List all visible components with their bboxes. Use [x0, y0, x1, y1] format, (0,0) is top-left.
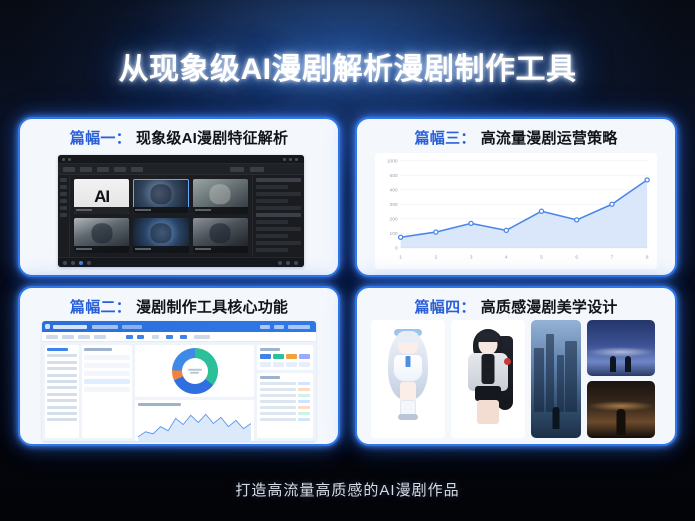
thumbnail-ai-label: AI	[94, 188, 109, 205]
donut-chart	[172, 348, 218, 394]
svg-text:7: 7	[611, 254, 614, 260]
svg-text:5: 5	[540, 254, 543, 260]
dashboard-main-column	[135, 345, 254, 438]
svg-text:600: 600	[389, 173, 398, 179]
dashboard-toolbar	[42, 332, 316, 342]
chart-data-point	[434, 230, 438, 234]
scene-artwork-corridor	[587, 381, 655, 438]
card-two-header: 篇幅二：漫剧制作工具核心功能	[20, 288, 338, 322]
quick-stats-panel	[257, 345, 313, 370]
editor-main: AI	[58, 175, 304, 257]
card-three-body: 01002003004006001000 12345678	[357, 151, 675, 275]
editor-statusbar	[58, 257, 304, 267]
dashboard-header	[42, 321, 316, 332]
svg-text:1: 1	[399, 254, 402, 260]
thumbnail-ai[interactable]: AI	[74, 179, 129, 214]
chart-data-point	[504, 228, 508, 232]
table-row	[260, 382, 310, 385]
card-chapter-one[interactable]: 篇幅一：现象级AI漫剧特征解析	[18, 117, 340, 277]
scene-artwork-portal	[587, 320, 655, 376]
card-one-body: AI	[20, 151, 338, 275]
admin-dashboard-screenshot	[42, 321, 316, 441]
card-four-heading: 高质感漫剧美学设计	[481, 299, 618, 316]
thumbnail-item[interactable]	[193, 218, 248, 253]
svg-text:8: 8	[646, 254, 649, 260]
footer-tagline: 打造高流量高质感的AI漫剧作品	[0, 479, 695, 500]
video-editor-screenshot: AI	[58, 155, 304, 267]
card-four-header: 篇幅四：高质感漫剧美学设计	[357, 288, 675, 322]
chart-x-tick-labels: 12345678	[399, 254, 649, 260]
table-row	[260, 412, 310, 415]
chart-data-point	[575, 218, 579, 222]
card-two-heading: 漫剧制作工具核心功能	[136, 299, 288, 316]
main-title-text: 从现象级AI漫剧解析漫剧制作工具	[119, 44, 577, 88]
editor-thumbnail-grid: AI	[70, 175, 252, 257]
thumbnail-item[interactable]	[74, 218, 129, 253]
table-row	[260, 400, 310, 403]
line-chart: 01002003004006001000 12345678	[375, 153, 657, 269]
table-row	[260, 406, 310, 409]
dashboard-sidebar[interactable]	[45, 345, 79, 438]
thumbnail-item[interactable]	[133, 218, 188, 253]
slide-canvas: 从现象级AI漫剧解析漫剧制作工具 篇幅一：现象级AI漫剧特征解析	[0, 0, 695, 521]
editor-toolbar	[58, 164, 304, 175]
editor-left-rail	[58, 175, 70, 257]
editor-properties-panel	[252, 175, 304, 257]
chart-data-point	[399, 235, 403, 239]
card-one-heading: 现象级AI漫剧特征解析	[136, 130, 288, 147]
area-chart-panel	[135, 400, 254, 441]
svg-text:2: 2	[434, 254, 437, 260]
scene-column	[587, 320, 655, 438]
dashboard-list-panel[interactable]	[82, 345, 132, 438]
svg-text:400: 400	[389, 188, 398, 194]
area-chart-svg	[138, 406, 251, 441]
chart-data-point	[610, 202, 614, 206]
svg-text:1000: 1000	[387, 159, 398, 165]
svg-text:200: 200	[389, 217, 398, 223]
card-three-header: 篇幅三：高流量漫剧运营策略	[357, 119, 675, 153]
donut-chart-panel	[135, 345, 254, 397]
dashboard-body	[42, 342, 316, 441]
artwork-gallery	[367, 320, 665, 438]
table-row	[260, 394, 310, 397]
page-title: 从现象级AI漫剧解析漫剧制作工具	[0, 44, 695, 88]
svg-text:6: 6	[575, 254, 578, 260]
card-chapter-three[interactable]: 篇幅三：高流量漫剧运营策略 01002003004006001000 12345…	[355, 117, 677, 277]
card-one-tag: 篇幅一：	[70, 130, 131, 147]
svg-text:300: 300	[389, 202, 398, 208]
svg-text:100: 100	[389, 231, 398, 237]
card-three-tag: 篇幅三：	[414, 130, 475, 147]
chart-data-point	[469, 221, 473, 225]
card-four-tag: 篇幅四：	[414, 299, 475, 316]
chart-y-tick-labels: 01002003004006001000	[387, 159, 398, 252]
chart-data-point	[645, 178, 649, 182]
table-row	[260, 388, 310, 391]
svg-text:0: 0	[395, 246, 398, 252]
dashboard-logo-icon	[45, 324, 50, 329]
footer-text: 打造高流量高质感的AI漫剧作品	[235, 482, 459, 499]
chart-data-point	[539, 209, 543, 213]
scene-artwork-city	[531, 320, 581, 438]
line-chart-svg: 01002003004006001000 12345678	[375, 153, 657, 269]
card-two-tag: 篇幅二：	[70, 299, 131, 316]
card-three-heading: 高流量漫剧运营策略	[481, 130, 618, 147]
data-table-panel	[257, 373, 313, 439]
card-two-body	[20, 320, 338, 444]
svg-text:4: 4	[505, 254, 508, 260]
character-artwork-black	[451, 320, 525, 438]
thumbnail-item[interactable]	[193, 179, 248, 214]
card-one-header: 篇幅一：现象级AI漫剧特征解析	[20, 119, 338, 153]
card-chapter-four[interactable]: 篇幅四：高质感漫剧美学设计	[355, 286, 677, 446]
character-artwork-white	[371, 320, 445, 438]
card-chapter-two[interactable]: 篇幅二：漫剧制作工具核心功能	[18, 286, 340, 446]
dashboard-right-column	[257, 345, 313, 438]
card-four-body	[357, 320, 675, 444]
editor-titlebar	[58, 155, 304, 164]
table-row	[260, 418, 310, 421]
svg-text:3: 3	[470, 254, 473, 260]
thumbnail-item[interactable]	[133, 179, 188, 214]
